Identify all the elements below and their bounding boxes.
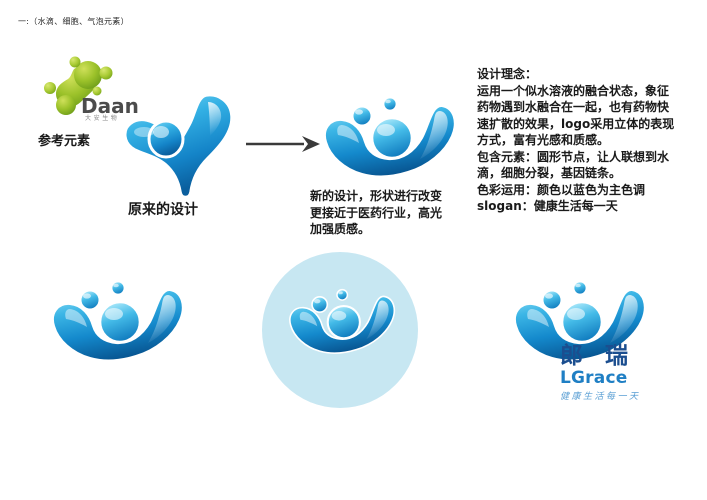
brand-lockup: 郎 瑞 LGrace 健康生活每一天 (560, 344, 690, 404)
daan-subtitle: 大安生物 (85, 114, 119, 121)
reference-element-label: 参考元素 (38, 130, 90, 149)
brand-name-cn: 郎 瑞 (560, 344, 690, 368)
new-design-note-line-2: 更接近于医药行业，高光 (310, 205, 485, 222)
brand-slogan: 健康生活每一天 (560, 391, 690, 404)
concept-line-4: 速扩散的效果，logo采用立体的表现 (477, 116, 692, 133)
design-concept-text: 设计理念： 运用一个似水溶液的融合状态，象征 药物遇到水融合在一起，也有药物快 … (477, 66, 692, 215)
concept-line-7: 滴，细胞分裂，基因链条。 (477, 165, 692, 182)
arrow-right-icon (246, 133, 322, 155)
concept-line-9: slogan：健康生活每一天 (477, 198, 692, 215)
new-design-logo (318, 98, 464, 190)
header-note: 一:（水滴、细胞、气泡元素） (18, 16, 129, 27)
concept-line-2: 运用一个似水溶液的融合状态，象征 (477, 83, 692, 100)
new-design-note-line-1: 新的设计，形状进行改变 (310, 188, 485, 205)
logo-variant-bottom-left (44, 282, 194, 374)
logo-variant-bottom-center-mark (284, 290, 402, 364)
new-design-note-line-3: 加强质感。 (310, 221, 485, 238)
old-design-label: 原来的设计 (128, 199, 198, 219)
concept-line-6: 包含元素：圆形节点，让人联想到水 (477, 149, 692, 166)
design-proposal-page: 一:（水滴、细胞、气泡元素） (0, 0, 707, 500)
old-design-logo (118, 92, 254, 200)
concept-line-3: 药物遇到水融合在一起，也有药物快 (477, 99, 692, 116)
concept-line-5: 方式，富有光感和质感。 (477, 132, 692, 149)
brand-name-en: LGrace (560, 369, 690, 388)
concept-line-1: 设计理念： (477, 66, 692, 83)
new-design-note: 新的设计，形状进行改变 更接近于医药行业，高光 加强质感。 (310, 188, 485, 238)
logo-variant-bottom-center (262, 252, 418, 408)
concept-line-8: 色彩运用：颜色以蓝色为主色调 (477, 182, 692, 199)
